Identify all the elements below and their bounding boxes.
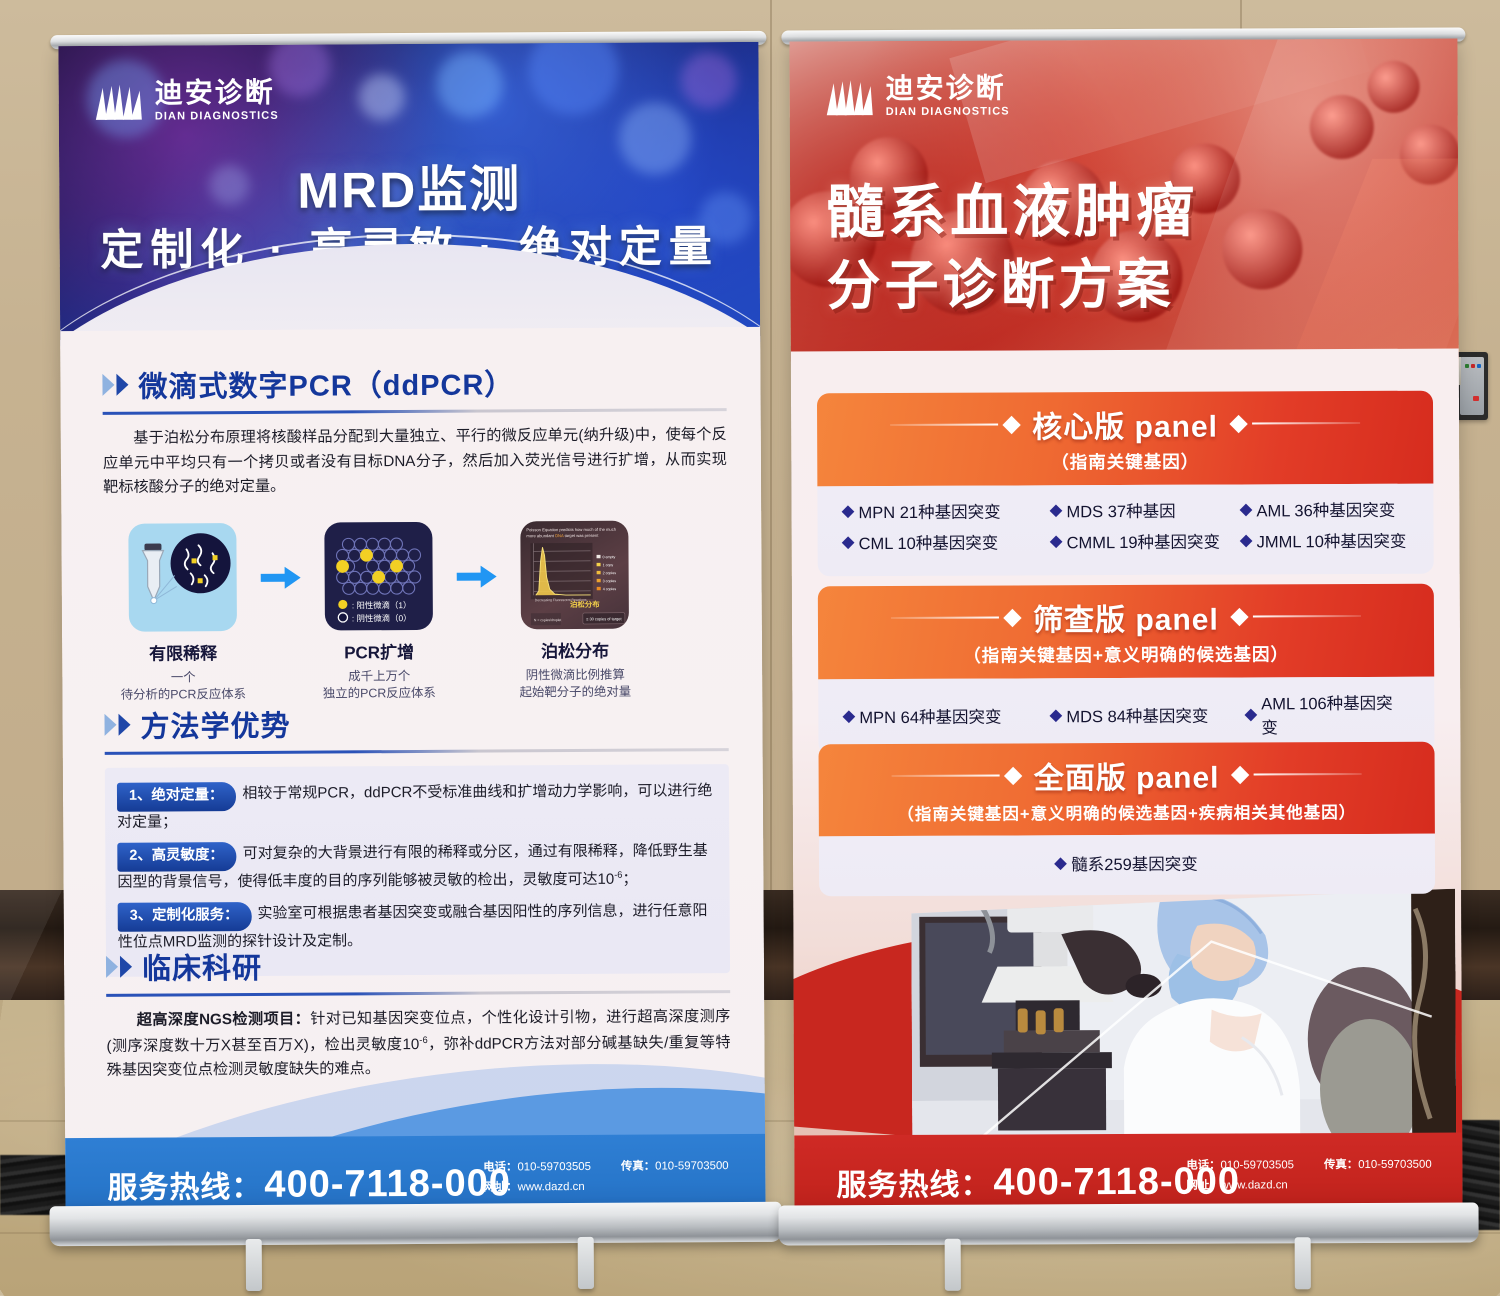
fax-value: 010-59703500 [655, 1160, 729, 1172]
diamond-rule-right-icon [1233, 767, 1361, 781]
diagram-step-subline: 起始靶分子的绝对量 [500, 684, 650, 702]
arrow-right-icon [454, 565, 500, 587]
logo-text-cn: 迪安诊断 [155, 79, 279, 108]
diagram-step-dilution: 有限稀释 一个 待分析的PCR反应体系 [107, 523, 258, 704]
diamond-bullet-icon [1054, 857, 1067, 870]
svg-text:0 empty: 0 empty [603, 555, 616, 559]
diagram-step-subline: 独立的PCR反应体系 [304, 685, 454, 703]
panel-item: MDS 84种基因突变 [1051, 690, 1246, 739]
web-label: 网址： [483, 1181, 517, 1193]
logo-text-en: DIAN DIAGNOSTICS [155, 110, 279, 123]
svg-text:泊松分布: 泊松分布 [570, 600, 600, 609]
svg-text:≥ 30 copies of target: ≥ 30 copies of target [586, 616, 622, 621]
panel-item: AML 36种基因突变 [1241, 497, 1395, 522]
diagram-step-label: PCR扩增 [304, 638, 454, 664]
advantage-item: 2、高灵敏度：可对复杂的大背景进行有限的稀释或分区，通过有限稀释，降低野生基因型… [117, 838, 713, 895]
panel-item: 髓系259基因突变 [1056, 851, 1198, 876]
diagram-step-subline: 一个 [108, 669, 258, 687]
section-clinical: 临床科研 超高深度NGS检测项目：针对已知基因突变位点，个性化设计引物，进行超高… [106, 942, 731, 1084]
triangle-arrow-icon [102, 374, 128, 396]
section-methodology: 方法学优势 [104, 700, 728, 755]
arrow-right-icon [258, 567, 304, 589]
panel-item: CMML 19种基因突变 [1052, 528, 1242, 553]
fax-label: 传真： [621, 1161, 655, 1173]
panel-item: CML 10种基因突变 [844, 529, 1052, 554]
advantage-exponent: -6 [614, 869, 622, 879]
diamond-bullet-icon [1050, 504, 1063, 517]
section-title: 临床科研 [142, 945, 262, 988]
poisson-plot-icon: Poisson Equation predicts how much of th… [520, 521, 629, 630]
web-label: 网址： [1186, 1179, 1220, 1191]
diamond-bullet-icon [1244, 708, 1257, 721]
fan-logo-icon [93, 81, 145, 121]
panel-note: （指南关键基因） [817, 448, 1433, 476]
panel-core-header: 核心版 panel （指南关键基因） [817, 391, 1433, 487]
panel-screening-header: 筛查版 panel （指南关键基因+意义明确的候选基因） [818, 584, 1434, 680]
panel-comprehensive-list: 髓系259基因突变 [819, 834, 1435, 897]
svg-text:2 copies: 2 copies [603, 571, 617, 575]
poster-right-header: 迪安诊断 DIAN DIAGNOSTICS 髓系血液肿瘤 分子诊断方案 [789, 39, 1458, 362]
advantage-tag: 2、高灵敏度： [117, 842, 237, 872]
logo-text-en: DIAN DIAGNOSTICS [886, 106, 1010, 119]
diamond-rule-left-icon [891, 611, 1019, 625]
contact-right: 电话：010-59703505 传真：010-59703500 网址：www.d… [1186, 1156, 1432, 1196]
diagram-step-label: 泊松分布 [500, 637, 650, 663]
banner-foot [578, 1237, 594, 1289]
section-rule [106, 990, 730, 997]
svg-text:3 copies: 3 copies [603, 579, 617, 583]
panel-item: JMML 10种基因突变 [1242, 528, 1407, 553]
clinical-paragraph: 超高深度NGS检测项目：针对已知基因突变位点，个性化设计引物，进行超高深度测序(… [106, 1005, 730, 1084]
svg-text:4 copies: 4 copies [603, 587, 617, 591]
diamond-rule-right-icon [1233, 609, 1361, 623]
hotline-label: 服务热线： [107, 1162, 262, 1207]
logo-left: 迪安诊断 DIAN DIAGNOSTICS [93, 79, 279, 123]
panel-row: MPN 64种基因突变 MDS 84种基因突变 AML 106种基因突变 [844, 690, 1408, 740]
banner-foot [246, 1239, 262, 1291]
poster-right-title-line2: 分子诊断方案 [826, 240, 1174, 321]
panel-item: MDS 37种基因 [1051, 497, 1241, 522]
advantage-text-tail: ； [622, 870, 637, 887]
section-ddpcr: 微滴式数字PCR（ddPCR） 基于泊松分布原理将核酸样品分配到大量独立、平行的… [102, 360, 727, 501]
scene-room: 迪安诊断 DIAN DIAGNOSTICS MRD监测 定制化 · 高灵敏 · … [0, 0, 1500, 1296]
section-ddpcr-heading: 微滴式数字PCR（ddPCR） [102, 360, 726, 406]
hotline-label: 服务热线： [836, 1160, 991, 1205]
section-title: 方法学优势 [140, 703, 290, 746]
panel-row: MPN 21种基因突变 MDS 37种基因 AML 36种基因突变 [843, 497, 1407, 523]
banner-base-right [779, 1202, 1479, 1245]
banner-mrd-monitoring: 迪安诊断 DIAN DIAGNOSTICS MRD监测 定制化 · 高灵敏 · … [58, 42, 765, 1226]
panel-comprehensive[interactable]: 全面版 panel （指南关键基因+意义明确的候选基因+疾病相关其他基因） 髓系… [818, 742, 1435, 897]
panel-item: MPN 64种基因突变 [844, 691, 1051, 740]
panel-name: 筛查版 panel [1033, 595, 1219, 640]
panel-row: CML 10种基因突变 CMML 19种基因突变 JMML 10种基因突变 [844, 528, 1408, 554]
hotline-number: 400-7118-000 [264, 1162, 511, 1207]
section-ddpcr-paragraph: 基于泊松分布原理将核酸样品分配到大量独立、平行的微反应单元(纳升级)中，使每个反… [103, 423, 727, 501]
triangle-arrow-icon [104, 714, 130, 736]
panel-note: （指南关键基因+意义明确的候选基因+疾病相关其他基因） [819, 799, 1435, 826]
web-value[interactable]: www.dazd.cn [518, 1181, 585, 1193]
fax-value: 010-59703500 [1358, 1159, 1432, 1171]
section-methodology-heading: 方法学优势 [104, 700, 728, 746]
panel-note: （指南关键基因+意义明确的候选基因） [818, 641, 1434, 669]
svg-text:N = copies/droplet: N = copies/droplet [534, 618, 562, 622]
microscope-technician-photo [911, 889, 1456, 1173]
logo-right: 迪安诊断 DIAN DIAGNOSTICS [824, 75, 1010, 119]
logo-text-cn: 迪安诊断 [886, 75, 1010, 104]
diamond-bullet-icon [1050, 535, 1063, 548]
hotline-right: 服务热线： 400-7118-000 [836, 1159, 1240, 1206]
banner-foot [1295, 1237, 1311, 1289]
svg-text:: 阳性微滴（1）: : 阳性微滴（1） [352, 600, 412, 610]
panel-screening[interactable]: 筛查版 panel （指南关键基因+意义明确的候选基因） MPN 64种基因突变… [818, 584, 1435, 756]
advantage-tag: 3、定制化服务： [118, 902, 252, 932]
section-title: 微滴式数字PCR（ddPCR） [138, 361, 514, 405]
advantage-tag: 1、绝对定量： [117, 782, 237, 812]
hotline-left: 服务热线： 400-7118-000 [107, 1160, 511, 1207]
diamond-rule-left-icon [892, 769, 1020, 783]
svg-text:more abundant DNA target was p: more abundant DNA target was present [526, 533, 599, 538]
diamond-rule-right-icon [1232, 416, 1360, 430]
panel-name: 核心版 panel [1032, 402, 1218, 447]
poster-right-canvas: 迪安诊断 DIAN DIAGNOSTICS 髓系血液肿瘤 分子诊断方案 [789, 39, 1462, 1224]
triangle-arrow-icon [106, 956, 132, 978]
diagram-step-amplification: : 阳性微滴（1） : 阴性微滴（0） PCR扩增 成千上万个 独立的PCR反应… [303, 522, 454, 703]
svg-text:1 copy: 1 copy [603, 563, 614, 567]
phone-label: 电话： [1186, 1160, 1220, 1172]
panel-core[interactable]: 核心版 panel （指南关键基因） MPN 21种基因突变 MDS 37种基因… [817, 391, 1434, 577]
svg-text:: 阴性微滴（0）: : 阴性微滴（0） [352, 613, 412, 623]
banner-base-left [49, 1202, 781, 1246]
diagram-step-subline: 成千上万个 [304, 668, 454, 686]
ddpcr-diagram: 有限稀释 一个 待分析的PCR反应体系 [107, 520, 722, 704]
panel-item: AML 106种基因突变 [1246, 690, 1408, 739]
banner-foot [945, 1239, 961, 1291]
panel-row: 髓系259基因突变 [845, 850, 1409, 876]
diamond-bullet-icon [842, 536, 855, 549]
phone-label: 电话： [483, 1162, 517, 1174]
poster-right-title-line1: 髓系血液肿瘤 [826, 164, 1198, 250]
panel-core-list: MPN 21种基因突变 MDS 37种基因 AML 36种基因突变 CML 10… [817, 484, 1433, 577]
diagram-step-poisson: Poisson Equation predicts how much of th… [499, 521, 650, 702]
test-tube-icon [128, 523, 237, 632]
contact-left: 电话：010-59703505 传真：010-59703500 网址：www.d… [483, 1157, 729, 1197]
diagram-step-label: 有限稀释 [108, 639, 258, 665]
diamond-bullet-icon [1240, 534, 1253, 547]
diamond-bullet-icon [843, 710, 856, 723]
fax-label: 传真： [1324, 1159, 1358, 1171]
banner-myeloid-panel: 迪安诊断 DIAN DIAGNOSTICS 髓系血液肿瘤 分子诊断方案 [789, 39, 1462, 1224]
panel-name: 全面版 panel [1034, 753, 1220, 798]
section-clinical-heading: 临床科研 [106, 942, 730, 988]
diamond-rule-left-icon [890, 418, 1018, 432]
panel-item: MPN 21种基因突变 [843, 498, 1051, 523]
fan-logo-icon [824, 77, 876, 117]
panel-comprehensive-header: 全面版 panel （指南关键基因+意义明确的候选基因+疾病相关其他基因） [818, 742, 1434, 837]
section-rule [103, 408, 727, 415]
poster-left-header: 迪安诊断 DIAN DIAGNOSTICS MRD监测 定制化 · 高灵敏 · … [58, 42, 760, 346]
phone-value: 010-59703505 [1220, 1159, 1294, 1171]
clinical-lead: 超高深度NGS检测项目： [137, 1011, 311, 1029]
clinical-exponent: -6 [419, 1034, 427, 1045]
diamond-bullet-icon [1049, 709, 1062, 722]
diagram-step-subline: 待分析的PCR反应体系 [108, 686, 258, 704]
svg-text:Poisson Equation predicts how: Poisson Equation predicts how much of th… [526, 527, 616, 533]
web-value[interactable]: www.dazd.cn [1221, 1179, 1288, 1191]
diamond-bullet-icon [842, 505, 855, 518]
phone-value: 010-59703505 [517, 1161, 591, 1173]
poster-left-canvas: 迪安诊断 DIAN DIAGNOSTICS MRD监测 定制化 · 高灵敏 · … [58, 42, 765, 1226]
wall-seam [770, 0, 772, 890]
droplet-array-icon: : 阳性微滴（1） : 阴性微滴（0） [324, 522, 433, 631]
diagram-step-subline: 阴性微滴比例推算 [500, 667, 650, 685]
diamond-bullet-icon [1240, 503, 1253, 516]
advantage-item: 1、绝对定量：相较于常规PCR，ddPCR不受标准曲线和扩增动力学影响，可以进行… [117, 778, 713, 835]
